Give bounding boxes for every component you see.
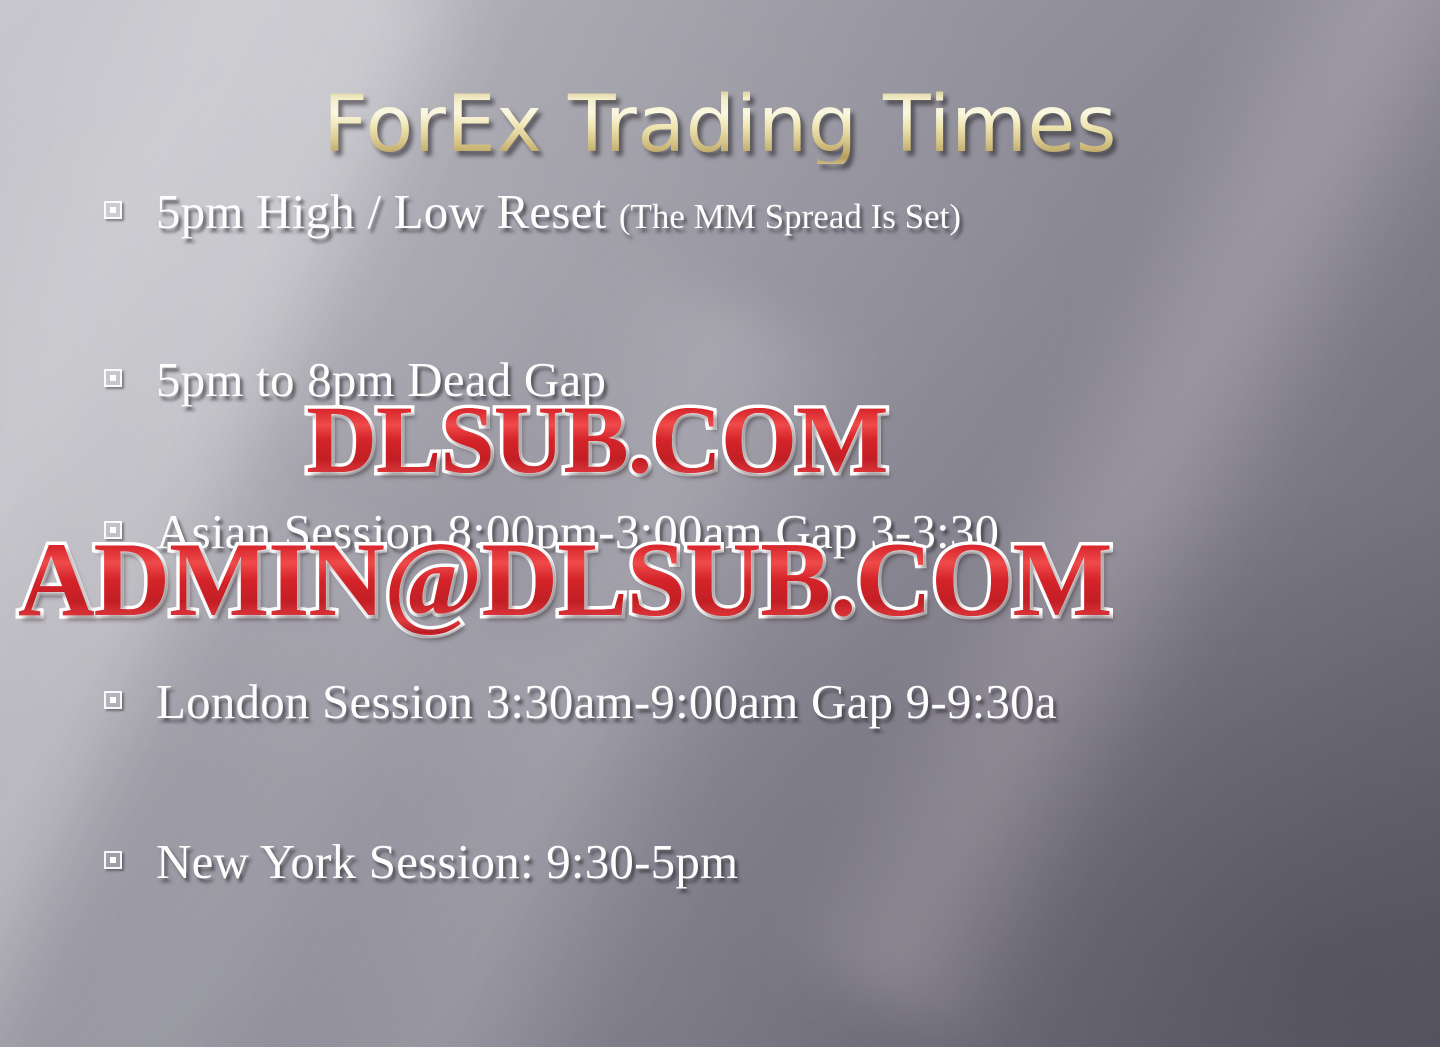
square-bullet-icon [104,369,122,387]
list-item: 5pm High / Low Reset (The MM Spread Is S… [104,186,1380,354]
list-item: London Session 3:30am-9:00am Gap 9-9:30a [104,676,1380,836]
bullet-text: London Session 3:30am-9:00am Gap 9-9:30a [156,676,1057,728]
bullet-text-main: London Session 3:30am-9:00am Gap 9-9:30a [156,674,1057,729]
square-bullet-icon [104,691,122,709]
bullet-text-main: 5pm High / Low Reset [156,184,619,239]
watermark-contact-email: ADMIN@DLSUB.COM ADMIN@DLSUB.COM [18,527,1112,633]
square-bullet-icon [104,201,122,219]
bullet-text: 5pm High / Low Reset (The MM Spread Is S… [156,186,961,238]
bullet-text-main: New York Session: 9:30-5pm [156,834,738,889]
slide-title: ForEx Trading Times [0,86,1440,164]
watermark-site-url-fill: DLSUB.COM [306,392,887,488]
watermark-site-url: DLSUB.COM DLSUB.COM [306,392,887,488]
bullet-text: New York Session: 9:30-5pm [156,836,738,888]
slide-canvas: ForEx Trading Times 5pm High / Low Reset… [0,0,1440,1047]
list-item: New York Session: 9:30-5pm [104,836,1380,991]
bullet-text-sub: (The MM Spread Is Set) [619,197,961,236]
watermark-contact-email-fill: ADMIN@DLSUB.COM [18,527,1112,633]
square-bullet-icon [104,851,122,869]
